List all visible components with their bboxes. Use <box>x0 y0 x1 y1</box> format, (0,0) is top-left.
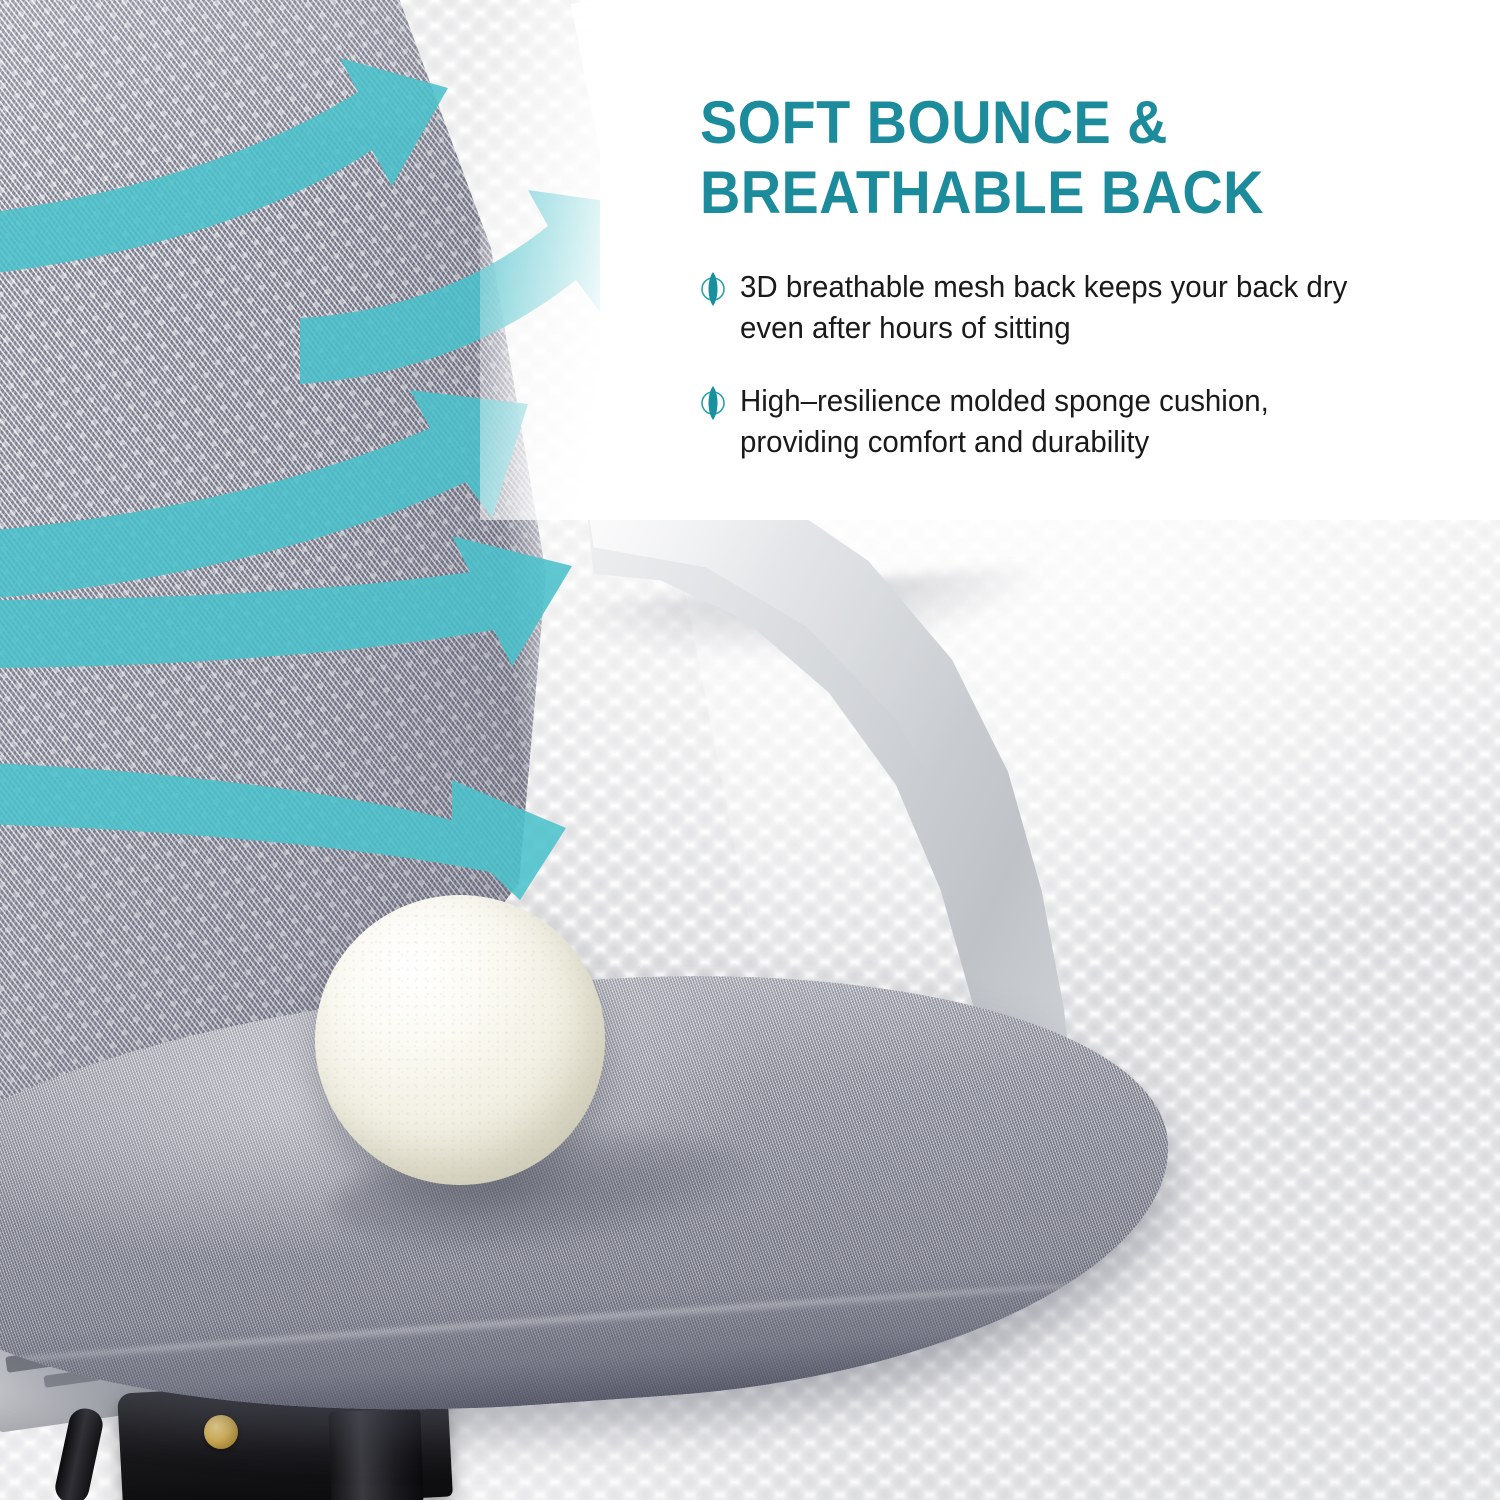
foam-resilience-ball <box>315 895 605 1185</box>
feature-bullet-list: 3D breathable mesh back keeps your back … <box>700 267 1400 463</box>
product-feature-image: SOFT BOUNCE & BREATHABLE BACK 3D breatha… <box>0 0 1500 1500</box>
page-title: SOFT BOUNCE & BREATHABLE BACK <box>700 88 1351 227</box>
gas-lift-cylinder <box>328 1408 423 1500</box>
list-item: 3D breathable mesh back keeps your back … <box>700 267 1400 349</box>
leaf-lens-bullet-icon <box>700 269 726 309</box>
list-item-label: 3D breathable mesh back keeps your back … <box>740 267 1367 349</box>
ball-surface-texture <box>315 895 605 1185</box>
feature-copy-block: SOFT BOUNCE & BREATHABLE BACK 3D breatha… <box>700 88 1400 495</box>
list-item-label: High–resilience molded sponge cushion, p… <box>740 381 1367 463</box>
leaf-lens-bullet-icon <box>700 383 726 423</box>
list-item: High–resilience molded sponge cushion, p… <box>700 381 1400 463</box>
